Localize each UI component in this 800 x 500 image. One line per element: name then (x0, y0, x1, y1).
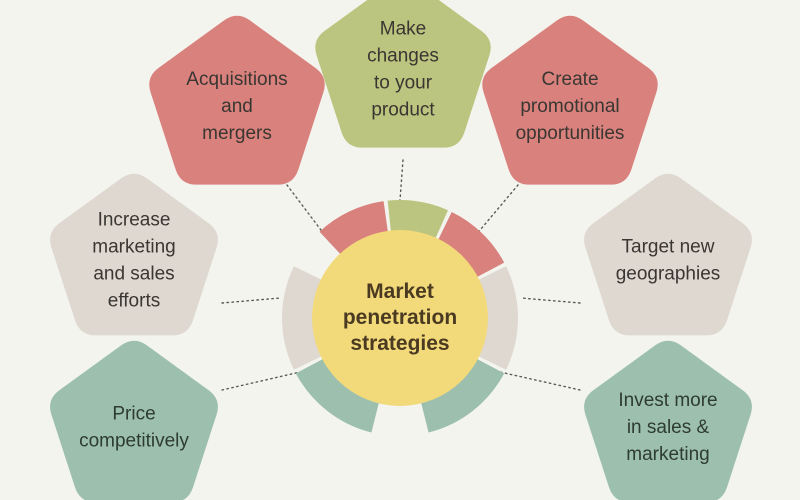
node-label-line: opportunities (516, 123, 625, 144)
node-label-line: Price (112, 404, 155, 425)
node-label-line: Create (541, 69, 598, 90)
node-label-line: marketing (626, 444, 709, 465)
node-label-line: and (221, 96, 253, 117)
node-label-invest-more-in-sales-and-marketing: Invest morein sales &marketing (618, 390, 717, 465)
node-label-line: product (371, 100, 435, 121)
node-label-line: competitively (79, 431, 189, 452)
node-label-line: to your (374, 73, 433, 94)
node-label-line: in sales & (627, 417, 710, 438)
node-label-line: Invest more (618, 390, 717, 411)
hub-group: Marketpenetrationstrategies (312, 230, 488, 406)
node-label-line: geographies (616, 264, 721, 285)
node-label-line: Acquisitions (186, 69, 287, 90)
hub-label-line: Market (366, 280, 434, 303)
hub-label-line: penetration (343, 306, 457, 329)
node-label-line: efforts (108, 291, 160, 312)
node-label-line: promotional (520, 96, 619, 117)
node-label-line: Target new (622, 237, 715, 258)
node-label-line: changes (367, 46, 439, 67)
node-label-line: Make (380, 19, 426, 40)
diagram-canvas: Marketpenetrationstrategies Acquisitions… (0, 0, 800, 500)
node-label-line: Increase (98, 210, 171, 231)
node-label-line: and sales (93, 264, 174, 285)
hub-label-line: strategies (350, 332, 449, 355)
node-label-line: mergers (202, 123, 272, 144)
market-penetration-strategies-diagram: Marketpenetrationstrategies Acquisitions… (0, 0, 800, 500)
strategy-node-make-changes-to-your-product[interactable]: Makechangesto yourproduct (315, 0, 490, 148)
node-label-line: marketing (92, 237, 175, 258)
